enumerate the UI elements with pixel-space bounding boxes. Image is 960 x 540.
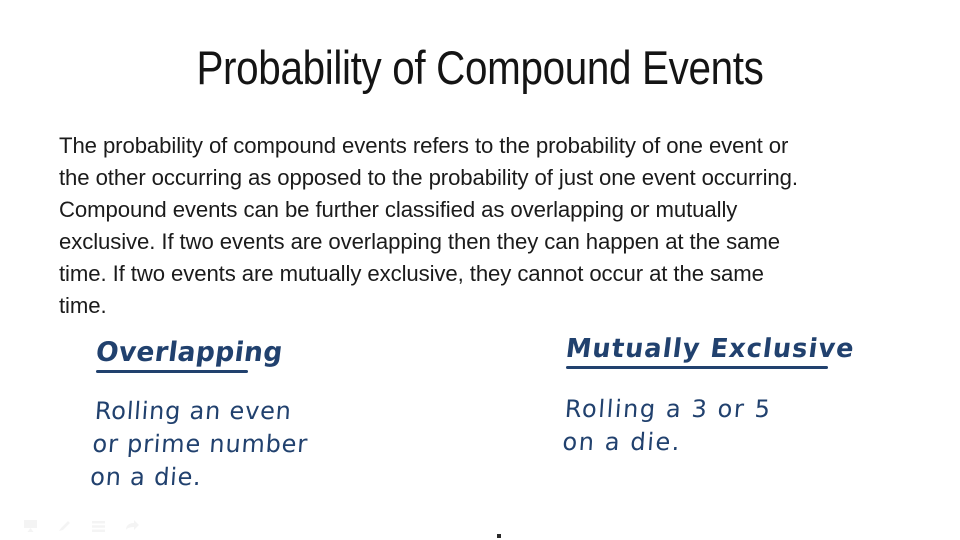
body-line: Compound events can be further classifie… [59,194,896,226]
share-icon[interactable] [124,519,141,534]
body-line: time. If two events are mutually exclusi… [59,258,896,290]
body-paragraph: The probability of compound events refer… [59,130,896,322]
mutually-exclusive-heading: Mutually Exclusive [564,334,856,364]
body-line: The probability of compound events refer… [59,130,896,162]
overlapping-line: on a die. [89,461,307,494]
download-icon[interactable] [22,519,39,534]
mutually-exclusive-line: Rolling a 3 or 5 [564,393,861,426]
mutually-exclusive-line: on a die. [561,426,858,459]
example-mutually-exclusive: Mutually Exclusive Rolling a 3 or 5 on a… [566,334,861,459]
slide-canvas: Probability of Compound Events The proba… [0,0,960,540]
pencil-icon[interactable] [56,519,73,534]
example-overlapping: Overlapping Rolling an even or prime num… [96,338,311,494]
bottom-center-mark [497,534,501,538]
overlapping-heading: Overlapping [94,338,309,368]
mutually-exclusive-underline [566,366,828,369]
list-icon[interactable] [90,519,107,534]
bottom-toolbar[interactable] [22,519,141,534]
overlapping-underline [96,370,248,373]
overlapping-body: Rolling an even or prime number on a die… [89,395,311,494]
page-title: Probability of Compound Events [67,40,893,96]
overlapping-line: or prime number [91,428,309,461]
body-line: time. [59,290,896,322]
body-line: exclusive. If two events are overlapping… [59,226,896,258]
body-line: the other occurring as opposed to the pr… [59,162,896,194]
overlapping-line: Rolling an even [94,395,312,428]
mutually-exclusive-body: Rolling a 3 or 5 on a die. [561,393,860,459]
